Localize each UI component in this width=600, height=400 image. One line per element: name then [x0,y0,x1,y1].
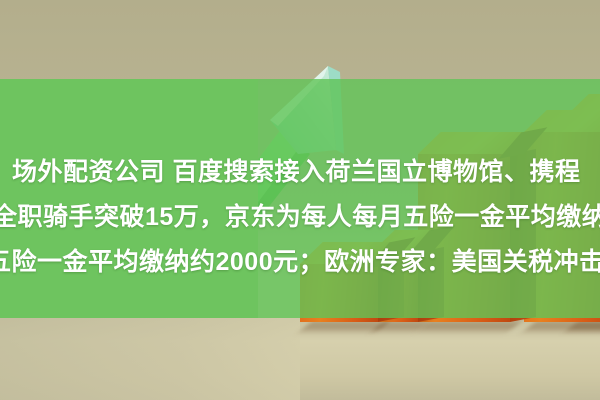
floor-shadow-gradient [0,318,300,400]
banner-image: 场外配资公司 百度搜索接入荷兰国立博物馆、携程 全职骑手突破15万，京东为每人每… [0,0,600,400]
bar-contact-shadow [300,321,389,331]
bar-contact-shadow [418,321,521,331]
headline-line-3: 五险一金平均缴纳约2000元；欧洲专家：美国关税冲击 [0,240,600,285]
headline-line-2: 全职骑手突破15万，京东为每人每月五险一金平均缴纳 [0,195,600,240]
headline-line-1: 场外配资公司 百度搜索接入荷兰国立博物馆、携程 [0,150,600,195]
headline-text: 场外配资公司 百度搜索接入荷兰国立博物馆、携程 全职骑手突破15万，京东为每人每… [0,150,600,285]
bar-contact-shadow [524,321,600,331]
